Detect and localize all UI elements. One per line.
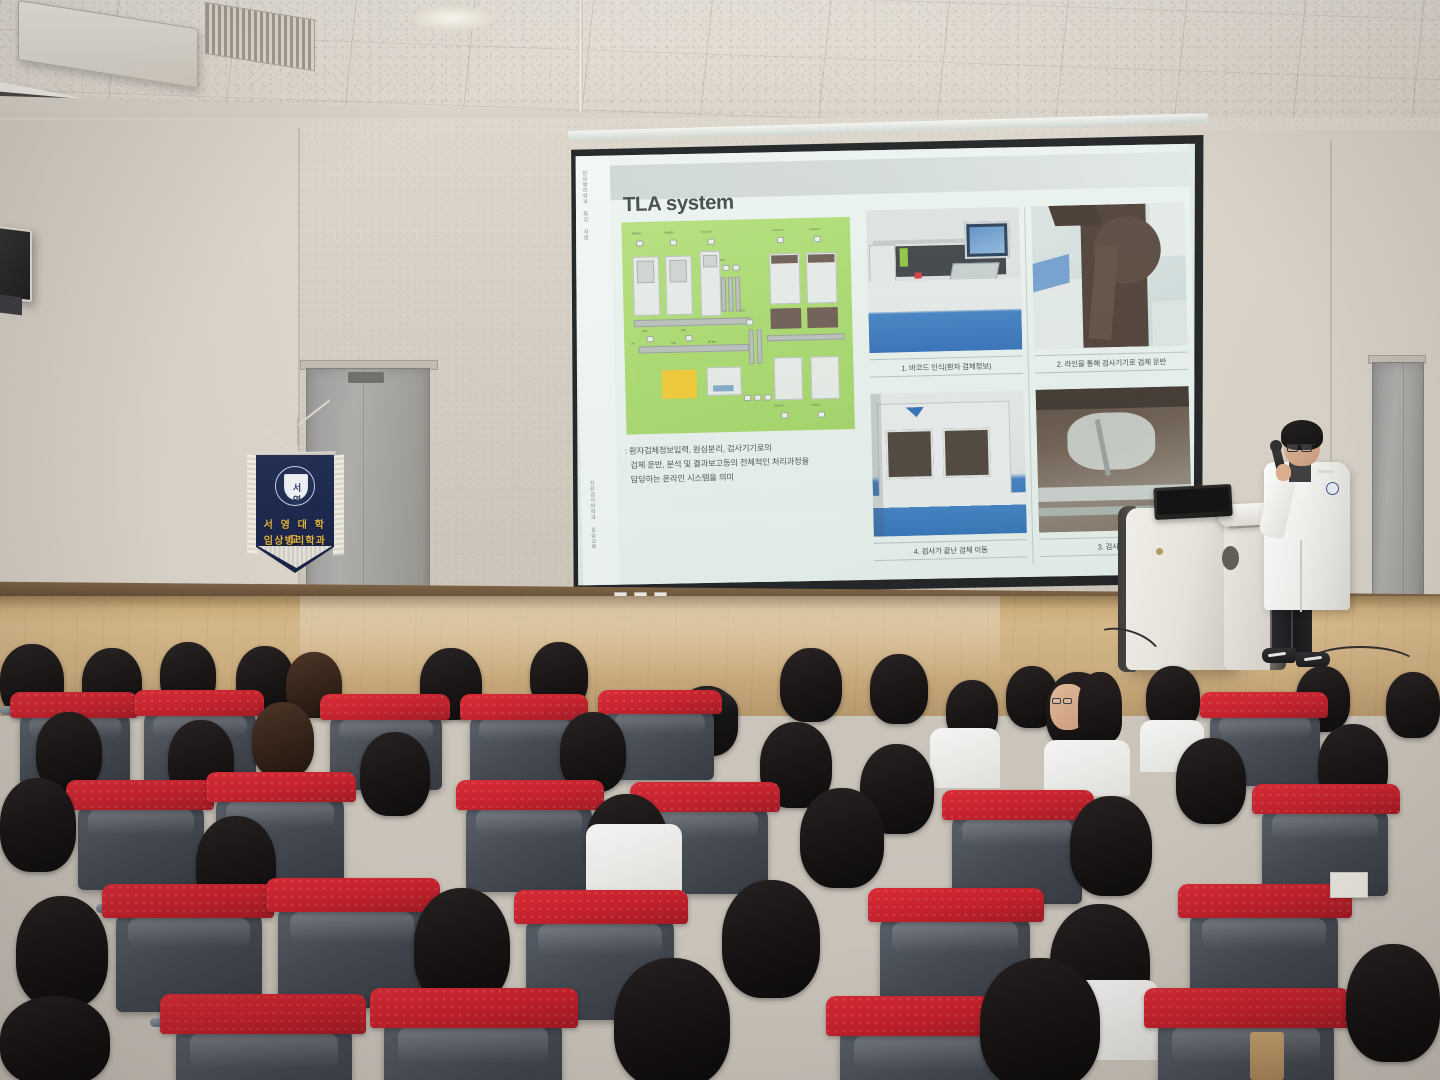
audience-head: [360, 732, 430, 816]
diagram-node-label: TQL-150: [701, 230, 712, 233]
diagram-track: [721, 277, 727, 312]
presenter-badge-icon: [1326, 482, 1339, 495]
diagram-node: [685, 335, 692, 341]
left-door-closer: [348, 372, 384, 383]
diagram-node-label: FR1: [681, 329, 686, 332]
audience-head: [0, 778, 76, 872]
diagram-node: [722, 265, 729, 271]
seat[interactable]: [1262, 808, 1388, 896]
right-door-seam: [1403, 363, 1405, 633]
seat-cushion[interactable]: [868, 888, 1044, 922]
diagram-node: [647, 336, 654, 342]
slide-title: TLA system: [623, 191, 734, 217]
presenter-coat-split: [1300, 540, 1302, 612]
diagram-node: [818, 411, 825, 417]
seal-shield: 서영: [284, 474, 308, 500]
photo-specimen-move: [870, 390, 1026, 536]
audience-head: [980, 958, 1100, 1080]
seat-cushion[interactable]: [942, 790, 1094, 820]
diagram-main-track-2: [639, 344, 749, 354]
diagram-node-label: LP1: [630, 343, 635, 346]
slide-side-text-bottom: 진단검사의학과 실습교육: [587, 480, 597, 550]
presenter-hand: [1276, 464, 1291, 481]
seat-cushion[interactable]: [514, 890, 688, 924]
seat-cushion[interactable]: [456, 780, 604, 810]
diagram-unit: [810, 356, 840, 400]
slide-side-text-top: 임상병리학과 특강 자료: [579, 170, 589, 240]
presenter-glasses-lens-left: [1287, 444, 1298, 452]
audience-head: [252, 702, 314, 778]
podium-speaker-grille: [1222, 546, 1239, 570]
diagram-analyzer-top: [808, 254, 835, 263]
diagram-node: [764, 394, 771, 400]
seat-cushion[interactable]: [1144, 988, 1350, 1028]
presenter-glasses-lens-right: [1301, 444, 1312, 452]
diagram-track: [767, 333, 845, 341]
photo-barcode-scan: [866, 207, 1022, 353]
diagram-highlight-area: [662, 370, 697, 399]
diagram-node-label: FR2: [642, 330, 647, 333]
seat-cushion[interactable]: [266, 878, 440, 912]
seat[interactable]: [466, 804, 592, 892]
diagram-node-label: Analy-2: [775, 404, 784, 407]
seat-cushion[interactable]: [598, 690, 722, 714]
audience-glasses-icon: [1052, 698, 1061, 704]
diagram-node: [746, 319, 753, 325]
wall-speaker-icon: [0, 226, 32, 302]
diagram-unit-panel: [703, 255, 718, 268]
diagram-analyzer-top: [771, 255, 798, 264]
diagram-track: [748, 329, 754, 364]
audience-head: [614, 958, 730, 1080]
diagram-node-label: DM(R)-1: [664, 231, 674, 234]
presenter-coat-pocket: [1318, 470, 1334, 473]
tla-layout-diagram: DM(R)-2 DM(R)-1 TQL-150 Archive-2 Archiv…: [621, 217, 855, 435]
audience-head: [0, 996, 110, 1080]
diagram-unit-accent: [713, 385, 734, 392]
seat-cushion[interactable]: [66, 780, 214, 810]
seat-cushion[interactable]: [160, 994, 366, 1034]
slide-photo-cell: 4. 검사가 끝난 검체 이동: [870, 390, 1027, 569]
seat-cushion[interactable]: [206, 772, 356, 802]
seat[interactable]: [176, 1026, 352, 1080]
diagram-unit-panel: [669, 260, 687, 283]
photo-caption-2: 2. 라인을 통해 검사기기로 검체 운반: [1035, 351, 1188, 373]
lecture-hall-scene: 임상병리학과 특강 자료 진단검사의학과 실습교육 TLA system DM(…: [0, 0, 1440, 1080]
photo-caption-1: 1. 바코드 인식(환자 검체정보): [870, 356, 1023, 378]
diagram-node: [754, 395, 761, 401]
audience-head: [780, 648, 842, 722]
audience-hair: [1078, 672, 1122, 742]
diagram-node-label: AQL: [671, 342, 676, 345]
diagram-unit-panel: [637, 260, 655, 283]
aisle-floor-strip: [1250, 1032, 1284, 1080]
diagram-track: [735, 277, 741, 312]
seat[interactable]: [1158, 1020, 1334, 1080]
left-wall-panel: [0, 120, 300, 640]
screen-surface: 임상병리학과 특강 자료 진단검사의학과 실습교육 TLA system DM(…: [570, 141, 1200, 589]
seat-cushion[interactable]: [1252, 784, 1400, 814]
diagram-node-label: Analy-1: [811, 403, 820, 406]
diagram-node: [670, 239, 677, 245]
slide-photo-cell: 2. 라인을 통해 검사기기로 검체 운반: [1031, 203, 1188, 382]
diagram-node-label: Archive-1: [809, 228, 820, 231]
diagram-unit: [707, 366, 742, 395]
diagram-node: [636, 240, 643, 246]
diagram-node: [707, 239, 714, 245]
diagram-node-label: eF-BM: [708, 341, 716, 344]
diagram-node: [813, 236, 820, 242]
ceiling-light: [412, 6, 492, 30]
diagram-node: [777, 237, 784, 243]
diagram-node-label: BF1: [720, 259, 725, 262]
audience-head: [722, 880, 820, 998]
projection-screen: 임상병리학과 특강 자료 진단검사의학과 실습교육 TLA system DM(…: [566, 135, 1206, 595]
audience-head: [1176, 738, 1246, 824]
seat-cushion[interactable]: [102, 884, 274, 918]
audience-head: [870, 654, 928, 724]
seat-cushion[interactable]: [1200, 692, 1328, 718]
left-door-seam: [363, 369, 365, 619]
diagram-analyzer-base: [807, 307, 838, 328]
diagram-analyzer-base: [770, 308, 801, 329]
seat-cushion[interactable]: [1178, 884, 1352, 918]
photo-caption-4: 4. 검사가 끝난 검체 이동: [874, 539, 1027, 561]
audience-lab-coat: [586, 824, 682, 894]
diagram-track: [728, 277, 734, 312]
audience-head: [1070, 796, 1152, 896]
wall-speaker-bracket: [0, 295, 22, 316]
diagram-node-label: Archive-2: [773, 229, 784, 232]
pennant-fringe-right: [333, 454, 344, 555]
audience-lab-coat: [1044, 740, 1130, 796]
seal-mark-text: 서영: [289, 482, 305, 494]
diagram-track: [757, 329, 763, 364]
diagram-node-label: DM(R)-2: [632, 232, 642, 235]
seat-cushion[interactable]: [320, 694, 450, 720]
audience-head: [1386, 672, 1440, 738]
diagram-node-label: DS1: [740, 309, 745, 312]
podium-monitor[interactable]: [1153, 484, 1233, 520]
pennant-line-2: 임상병리학과: [256, 532, 334, 547]
university-seal-icon: 서영: [275, 466, 315, 506]
audience-head: [800, 788, 884, 888]
diagram-unit: [774, 357, 804, 401]
seat-cushion[interactable]: [134, 690, 264, 716]
podium-knob[interactable]: [1156, 548, 1163, 555]
seat-cushion[interactable]: [370, 988, 578, 1028]
audience-head: [1346, 944, 1440, 1062]
slide-body-text: : 환자검체정보입력, 원심분리, 검사기기로의 검체 운반, 분석 및 결과보…: [625, 439, 881, 488]
audience-seating: [0, 628, 1440, 1080]
seat-cushion[interactable]: [460, 694, 588, 720]
diagram-node: [744, 395, 751, 401]
diagram-node: [733, 264, 740, 270]
seat[interactable]: [384, 1020, 562, 1080]
seat[interactable]: [78, 804, 204, 890]
photo-line-transport: [1031, 203, 1187, 349]
presentation-slide: 임상병리학과 특강 자료 진단검사의학과 실습교육 TLA system DM(…: [570, 141, 1200, 589]
audience-glasses-icon: [1063, 698, 1072, 704]
podium-monitor-screen: [1156, 487, 1229, 515]
microphone-head: [1270, 440, 1282, 452]
slide-photo-cell: 1. 바코드 인식(환자 검체정보): [866, 207, 1023, 386]
diagram-main-track: [634, 317, 750, 327]
diagram-node: [781, 412, 788, 418]
handout-paper: [1330, 872, 1368, 898]
audience-lab-coat: [930, 728, 1000, 788]
audience-head: [16, 896, 108, 1008]
